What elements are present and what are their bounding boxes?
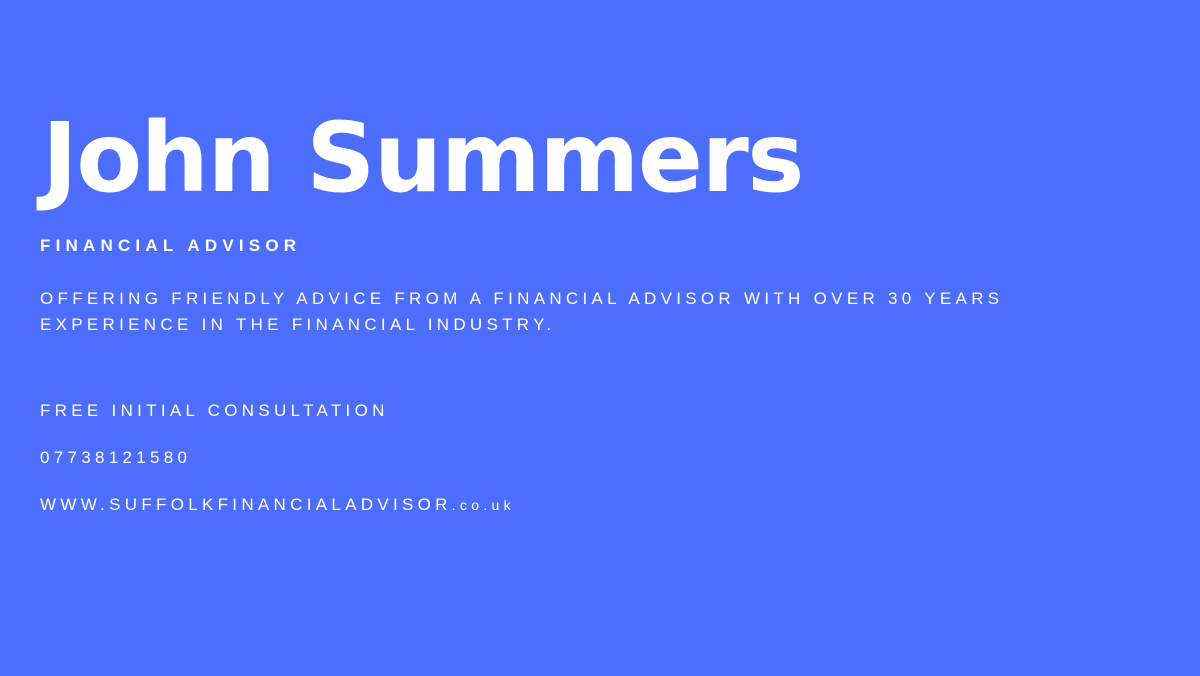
- business-card: John Summers FINANCIAL ADVISOR OFFERING …: [0, 0, 1200, 676]
- tagline-text: OFFERING FRIENDLY ADVICE FROM A FINANCIA…: [40, 286, 1105, 338]
- contact-block: FREE INITIAL CONSULTATION 07738121580 WW…: [40, 402, 515, 514]
- free-consultation-text: FREE INITIAL CONSULTATION: [40, 402, 515, 419]
- page-title: John Summers: [42, 110, 803, 206]
- job-title: FINANCIAL ADVISOR: [40, 236, 301, 256]
- website-domain: WWW.SUFFOLKFINANCIALADVISOR: [40, 495, 452, 514]
- website-url[interactable]: WWW.SUFFOLKFINANCIALADVISOR.co.uk: [40, 496, 515, 514]
- phone-number[interactable]: 07738121580: [40, 449, 515, 466]
- website-tld: .co.uk: [452, 497, 515, 513]
